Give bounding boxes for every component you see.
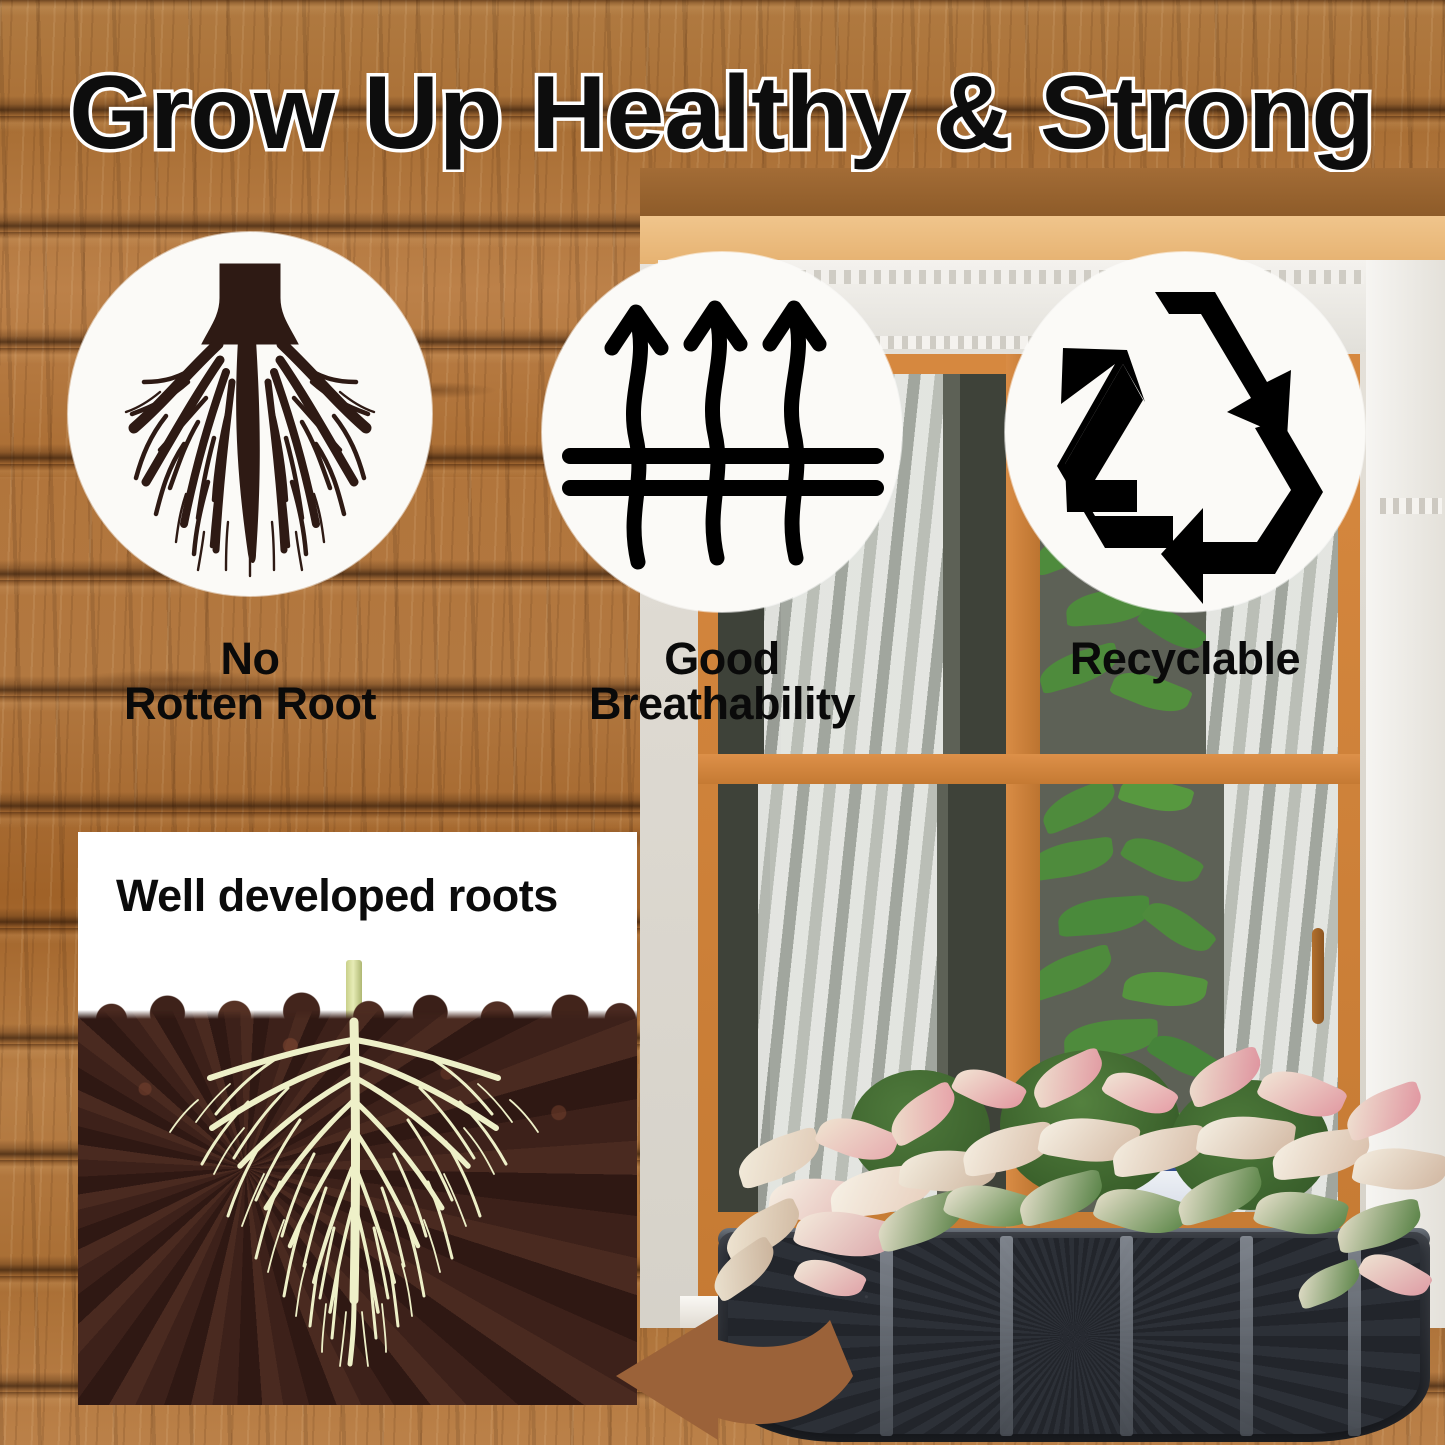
recycle-icon xyxy=(1005,252,1365,612)
root-panel-title: Well developed roots xyxy=(116,870,558,922)
feature-label-good-breathability: Good Breathability xyxy=(482,636,962,726)
curved-arrow-left-icon xyxy=(598,1258,858,1445)
planter-foliage xyxy=(700,1000,1445,1300)
roof-beam xyxy=(640,168,1445,220)
fibrous-root-illustration xyxy=(78,982,637,1405)
headline-text: Grow Up Healthy & Strong xyxy=(0,62,1445,172)
feature-recyclable[interactable] xyxy=(1005,252,1365,612)
well-developed-roots-panel: Well developed roots xyxy=(78,832,637,1405)
feature-label-no-rotten-root: No Rotten Root xyxy=(10,636,490,726)
breathability-arrows-icon xyxy=(542,252,902,612)
root-system-icon xyxy=(68,232,432,596)
svg-text:Grow Up Healthy & Strong: Grow Up Healthy & Strong xyxy=(69,62,1375,171)
headline: Grow Up Healthy & Strong xyxy=(0,62,1445,172)
product-infographic: Grow Up Healthy & Strong xyxy=(0,0,1445,1445)
window-mullion-horizontal xyxy=(698,754,1360,784)
feature-no-rotten-root[interactable] xyxy=(68,232,432,596)
dentil-molding-right xyxy=(1380,498,1442,514)
feature-good-breathability[interactable] xyxy=(542,252,902,612)
feature-label-recyclable: Recyclable xyxy=(955,636,1415,681)
